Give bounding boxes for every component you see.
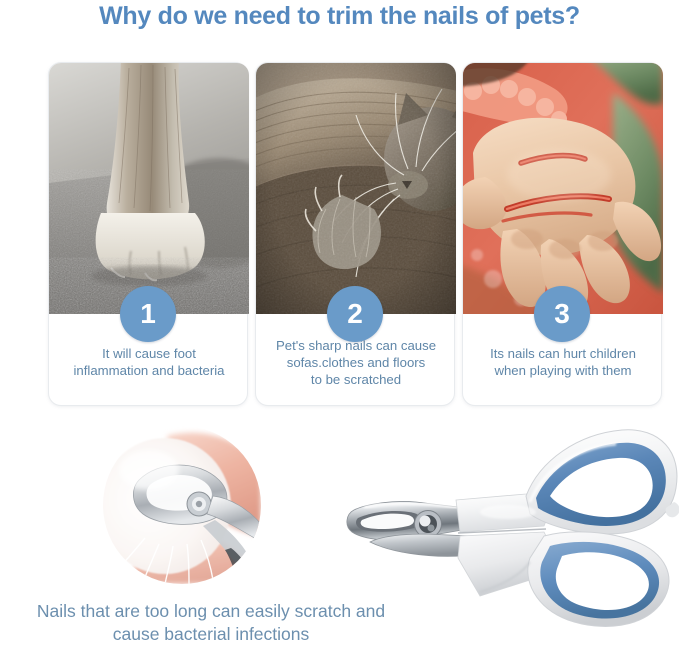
reason-card-list: 1 It will cause foot inflammation and ba… [48,62,662,406]
cat-paw-on-carpet-photo [49,63,249,314]
step-number-badge: 2 [327,286,383,342]
clipper-trimming-white-cat-nail-photo [103,426,261,584]
reason-card-2[interactable]: 2 Pet's sharp nails can cause sofas.clot… [255,62,455,406]
reason-card-1[interactable]: 1 It will cause foot inflammation and ba… [48,62,248,406]
reason-card-3-caption: Its nails can hurt children when playing… [463,345,663,379]
bottom-section: Nails that are too long can easily scrat… [0,408,679,645]
reason-card-2-caption: Pet's sharp nails can cause sofas.clothe… [256,337,456,388]
infographic-page: Why do we need to trim the nails of pets… [0,0,679,645]
step-number-badge: 1 [120,286,176,342]
reason-card-1-caption: It will cause foot inflammation and bact… [49,345,249,379]
bottom-caption: Nails that are too long can easily scrat… [0,600,422,645]
page-title: Why do we need to trim the nails of pets… [0,2,679,31]
scratched-child-hand-photo [463,63,663,314]
pet-nail-clipper-product-photo [330,416,679,628]
step-number-badge: 3 [534,286,590,342]
cat-scratching-sofa-photo [256,63,456,314]
reason-card-3[interactable]: 3 Its nails can hurt children when playi… [462,62,662,406]
